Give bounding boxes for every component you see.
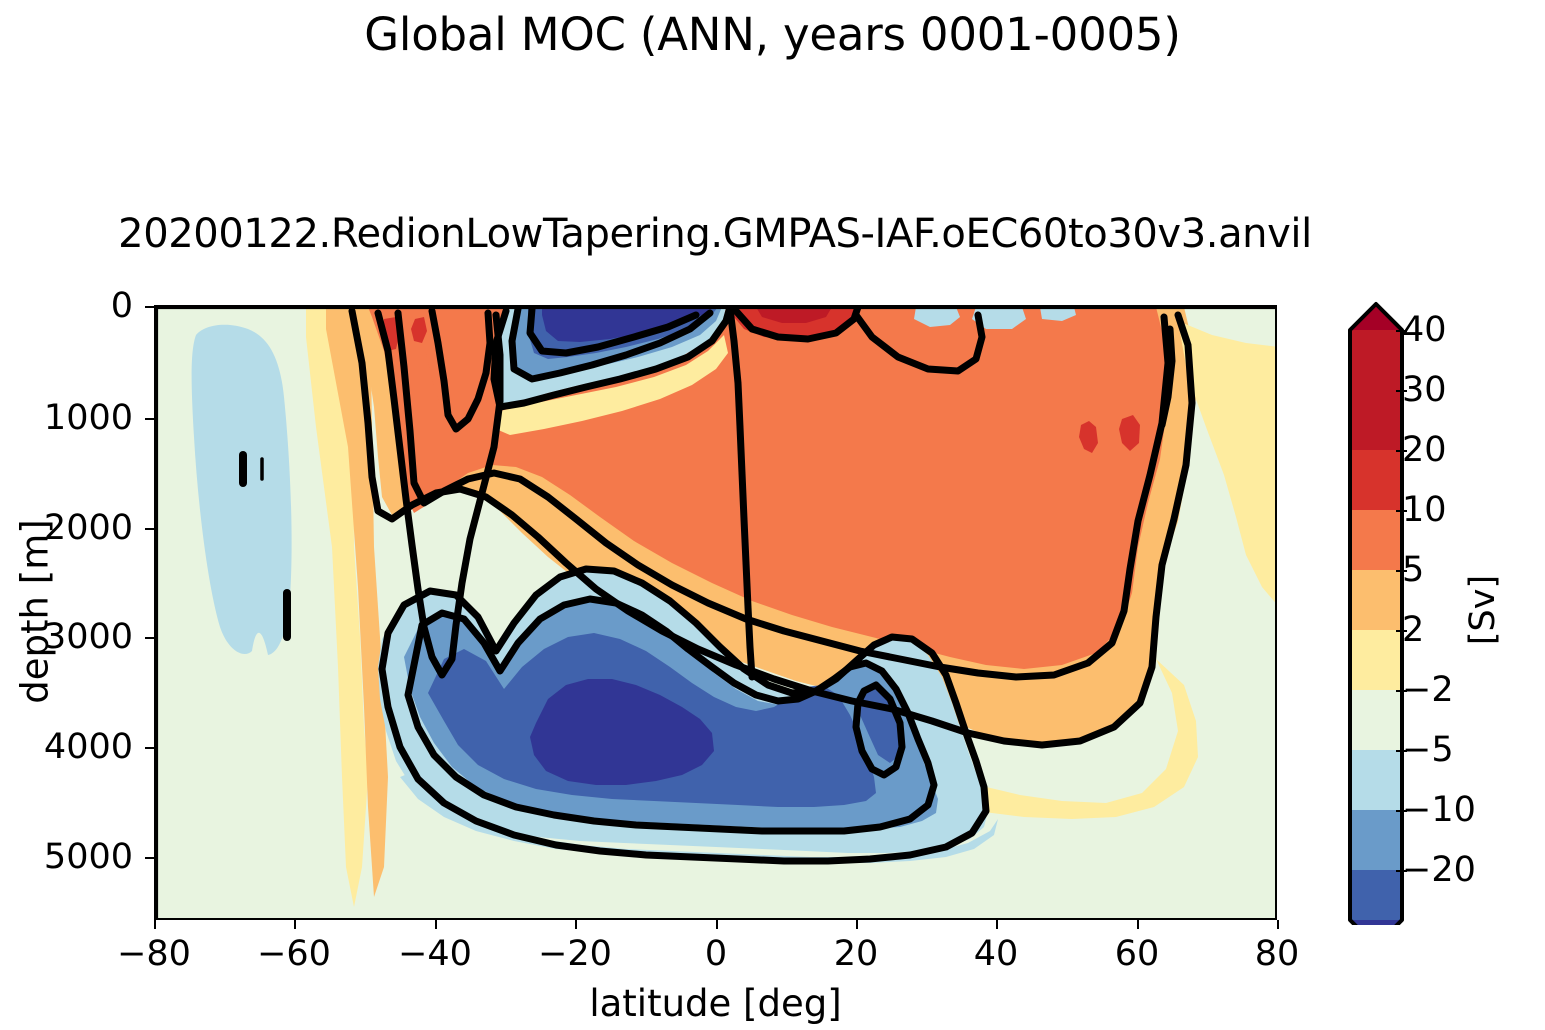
- ytick-mark: [145, 528, 154, 530]
- colorbar-band-5-10: [1350, 570, 1402, 630]
- colorbar-label-30: 30: [1402, 370, 1447, 410]
- ytick-label-5000: 5000: [0, 837, 133, 877]
- ytick-mark: [145, 857, 154, 859]
- colorbar-axis-label: [Sv]: [1463, 545, 1503, 675]
- colorbar-band-10-20: [1350, 510, 1402, 570]
- ytick-label-0: 0: [0, 286, 133, 326]
- ytick-mark: [145, 306, 154, 308]
- colorbar-extend-min: [1350, 920, 1402, 925]
- xtick-mark: [294, 920, 296, 929]
- figure-subtitle: 20200122.RedionLowTapering.GMPAS-IAF.oEC…: [0, 211, 1430, 257]
- xtick-label-m60: −60: [234, 934, 354, 974]
- xtick-mark: [154, 920, 156, 929]
- colorbar-band-m10-m5: [1350, 810, 1402, 870]
- moc-contour-axes: [154, 305, 1277, 920]
- xtick-label-40: 40: [936, 934, 1056, 974]
- colorbar-band-m2-2: [1350, 690, 1402, 750]
- moc-contour-plot: [156, 307, 1277, 920]
- colorbar-label-m5: −5: [1402, 730, 1454, 770]
- xtick-label-60: 60: [1077, 934, 1197, 974]
- colorbar-band-30-40b: [1350, 390, 1402, 450]
- xtick-mark: [996, 920, 998, 929]
- colorbar-band-m20-m10: [1350, 870, 1402, 920]
- xtick-mark: [1137, 920, 1139, 929]
- colorbar-label-5: 5: [1402, 550, 1424, 590]
- xtick-label-m80: −80: [94, 934, 214, 974]
- colorbar-label-m20: −20: [1402, 850, 1476, 890]
- filled-contours: [156, 307, 1277, 920]
- ytick-mark: [145, 637, 154, 639]
- colorbar-extend-max: [1350, 304, 1402, 330]
- colorbar-label-40: 40: [1402, 310, 1447, 350]
- colorbar-band-m5-m2: [1350, 750, 1402, 810]
- ytick-mark: [145, 418, 154, 420]
- figure-canvas: Global MOC (ANN, years 0001-0005) 202001…: [0, 0, 1545, 1030]
- colorbar-label-20: 20: [1402, 430, 1447, 470]
- colorbar-label-m2: −2: [1402, 670, 1454, 710]
- colorbar-band-2-5: [1350, 630, 1402, 690]
- xtick-mark: [856, 920, 858, 929]
- xtick-mark: [1277, 920, 1279, 929]
- figure-suptitle: Global MOC (ANN, years 0001-0005): [0, 8, 1545, 61]
- x-axis-label: latitude [deg]: [154, 982, 1277, 1025]
- xtick-label-m40: −40: [375, 934, 495, 974]
- xtick-mark: [435, 920, 437, 929]
- xtick-label-80: 80: [1217, 934, 1337, 974]
- xtick-label-20: 20: [796, 934, 916, 974]
- colorbar-label-m10: −10: [1402, 790, 1476, 830]
- colorbar: 40 30 20 10 5 2 −2 −5 −10 −20 [Sv]: [1340, 300, 1545, 925]
- xtick-label-0: 0: [656, 934, 776, 974]
- xtick-label-m20: −20: [515, 934, 635, 974]
- xtick-mark: [575, 920, 577, 929]
- colorbar-body: [1350, 304, 1402, 925]
- ytick-mark: [145, 747, 154, 749]
- colorbar-band-30-40: [1350, 330, 1402, 390]
- colorbar-label-10: 10: [1402, 490, 1447, 530]
- colorbar-band-20-30: [1350, 450, 1402, 510]
- colorbar-label-2: 2: [1402, 610, 1424, 650]
- y-axis-label: depth [m]: [14, 447, 57, 777]
- ytick-label-1000: 1000: [0, 398, 133, 438]
- xtick-mark: [716, 920, 718, 929]
